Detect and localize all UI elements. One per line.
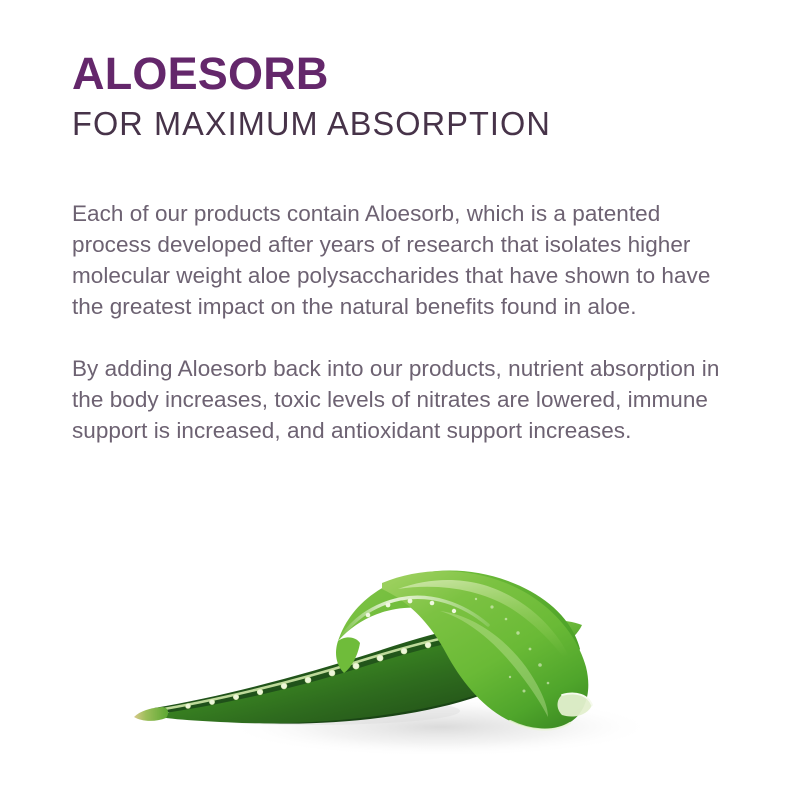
leaf-tip-stem	[134, 707, 168, 721]
header: ALOESORB FOR MAXIMUM ABSORPTION	[72, 48, 772, 144]
page-subtitle: FOR MAXIMUM ABSORPTION	[72, 104, 762, 144]
paragraph-1: Each of our products contain Aloesorb, w…	[72, 198, 744, 322]
body-copy: Each of our products contain Aloesorb, w…	[72, 198, 744, 446]
page-title: ALOESORB	[72, 48, 772, 100]
aloe-leaf-figure	[110, 545, 670, 775]
aloesorb-info-panel: ALOESORB FOR MAXIMUM ABSORPTION Each of …	[0, 0, 800, 800]
paragraph-2: By adding Aloesorb back into our product…	[72, 353, 744, 446]
aloe-leaf-image	[110, 545, 670, 775]
